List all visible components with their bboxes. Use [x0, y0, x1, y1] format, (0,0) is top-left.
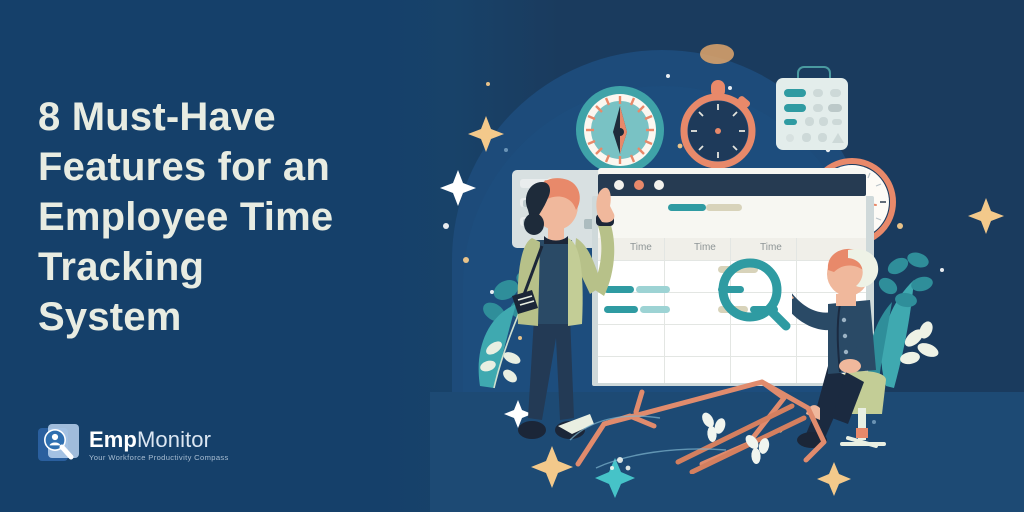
page-title: 8 Must-Have Features for an Employee Tim… — [38, 92, 428, 342]
column-header-time-3: Time — [760, 242, 782, 253]
headline-line-3: Employee Time — [38, 192, 428, 242]
clock-hand-lineart — [556, 368, 856, 474]
headline-line-5: System — [38, 292, 428, 342]
window-dot-3[interactable] — [654, 180, 664, 190]
progress-bar-filled — [668, 204, 706, 211]
stopwatch-icon — [678, 78, 758, 168]
banner-stage: Time Time Time — [0, 0, 1024, 512]
progress-bar-track — [706, 204, 742, 211]
logo-wordmark: EmpMonitor — [89, 429, 229, 451]
logo-word-monitor: Monitor — [137, 427, 211, 452]
headline-line-4: Tracking — [38, 242, 428, 292]
blob-decor — [700, 44, 734, 64]
column-header-time-2: Time — [694, 242, 716, 253]
compass-clock-icon — [574, 84, 666, 176]
magnifying-glass-icon — [716, 256, 792, 332]
headline-line-2: Features for an — [38, 142, 428, 192]
brand-logo[interactable]: EmpMonitor Your Workforce Productivity C… — [38, 424, 229, 466]
logo-word-emp: Emp — [89, 427, 137, 452]
headline-line-1: 8 Must-Have — [38, 92, 428, 142]
clipboard-calendar-icon — [776, 78, 848, 150]
magnifier-person-icon — [38, 424, 80, 466]
logo-tagline: Your Workforce Productivity Compass — [89, 454, 229, 462]
